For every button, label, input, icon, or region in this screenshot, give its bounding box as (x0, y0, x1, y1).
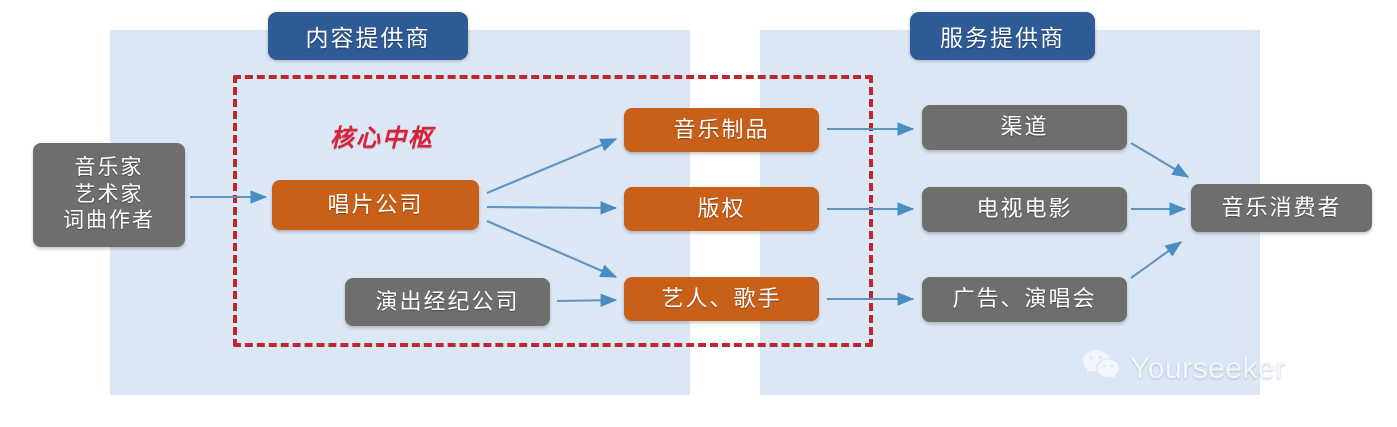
header-service-provider: 服务提供商 (910, 12, 1095, 60)
watermark: Yourseeker (1082, 349, 1286, 389)
node-performance-agency: 演出经纪公司 (345, 278, 550, 326)
node-copyright: 版权 (624, 187, 819, 231)
node-channels: 渠道 (922, 105, 1127, 150)
diagram-canvas: 内容提供商 服务提供商 核心中枢 音乐家 艺术家 词曲作者 唱片公司 演出经纪公… (0, 0, 1397, 427)
node-ads-concerts: 广告、演唱会 (922, 277, 1127, 322)
node-record-label: 唱片公司 (272, 180, 479, 230)
node-music-consumers: 音乐消费者 (1191, 184, 1372, 232)
node-creators-line-3: 词曲作者 (63, 208, 155, 235)
node-music-products: 音乐制品 (624, 108, 819, 152)
node-creators: 音乐家 艺术家 词曲作者 (33, 143, 185, 247)
node-tv-film: 电视电影 (922, 187, 1127, 232)
node-artists-singers: 艺人、歌手 (624, 277, 819, 321)
wechat-icon (1082, 349, 1120, 389)
node-creators-line-1: 音乐家 (75, 155, 144, 182)
header-content-provider: 内容提供商 (268, 12, 468, 60)
node-creators-line-2: 艺术家 (75, 182, 144, 209)
watermark-text: Yourseeker (1130, 352, 1286, 386)
core-hub-annotation: 核心中枢 (330, 118, 434, 153)
